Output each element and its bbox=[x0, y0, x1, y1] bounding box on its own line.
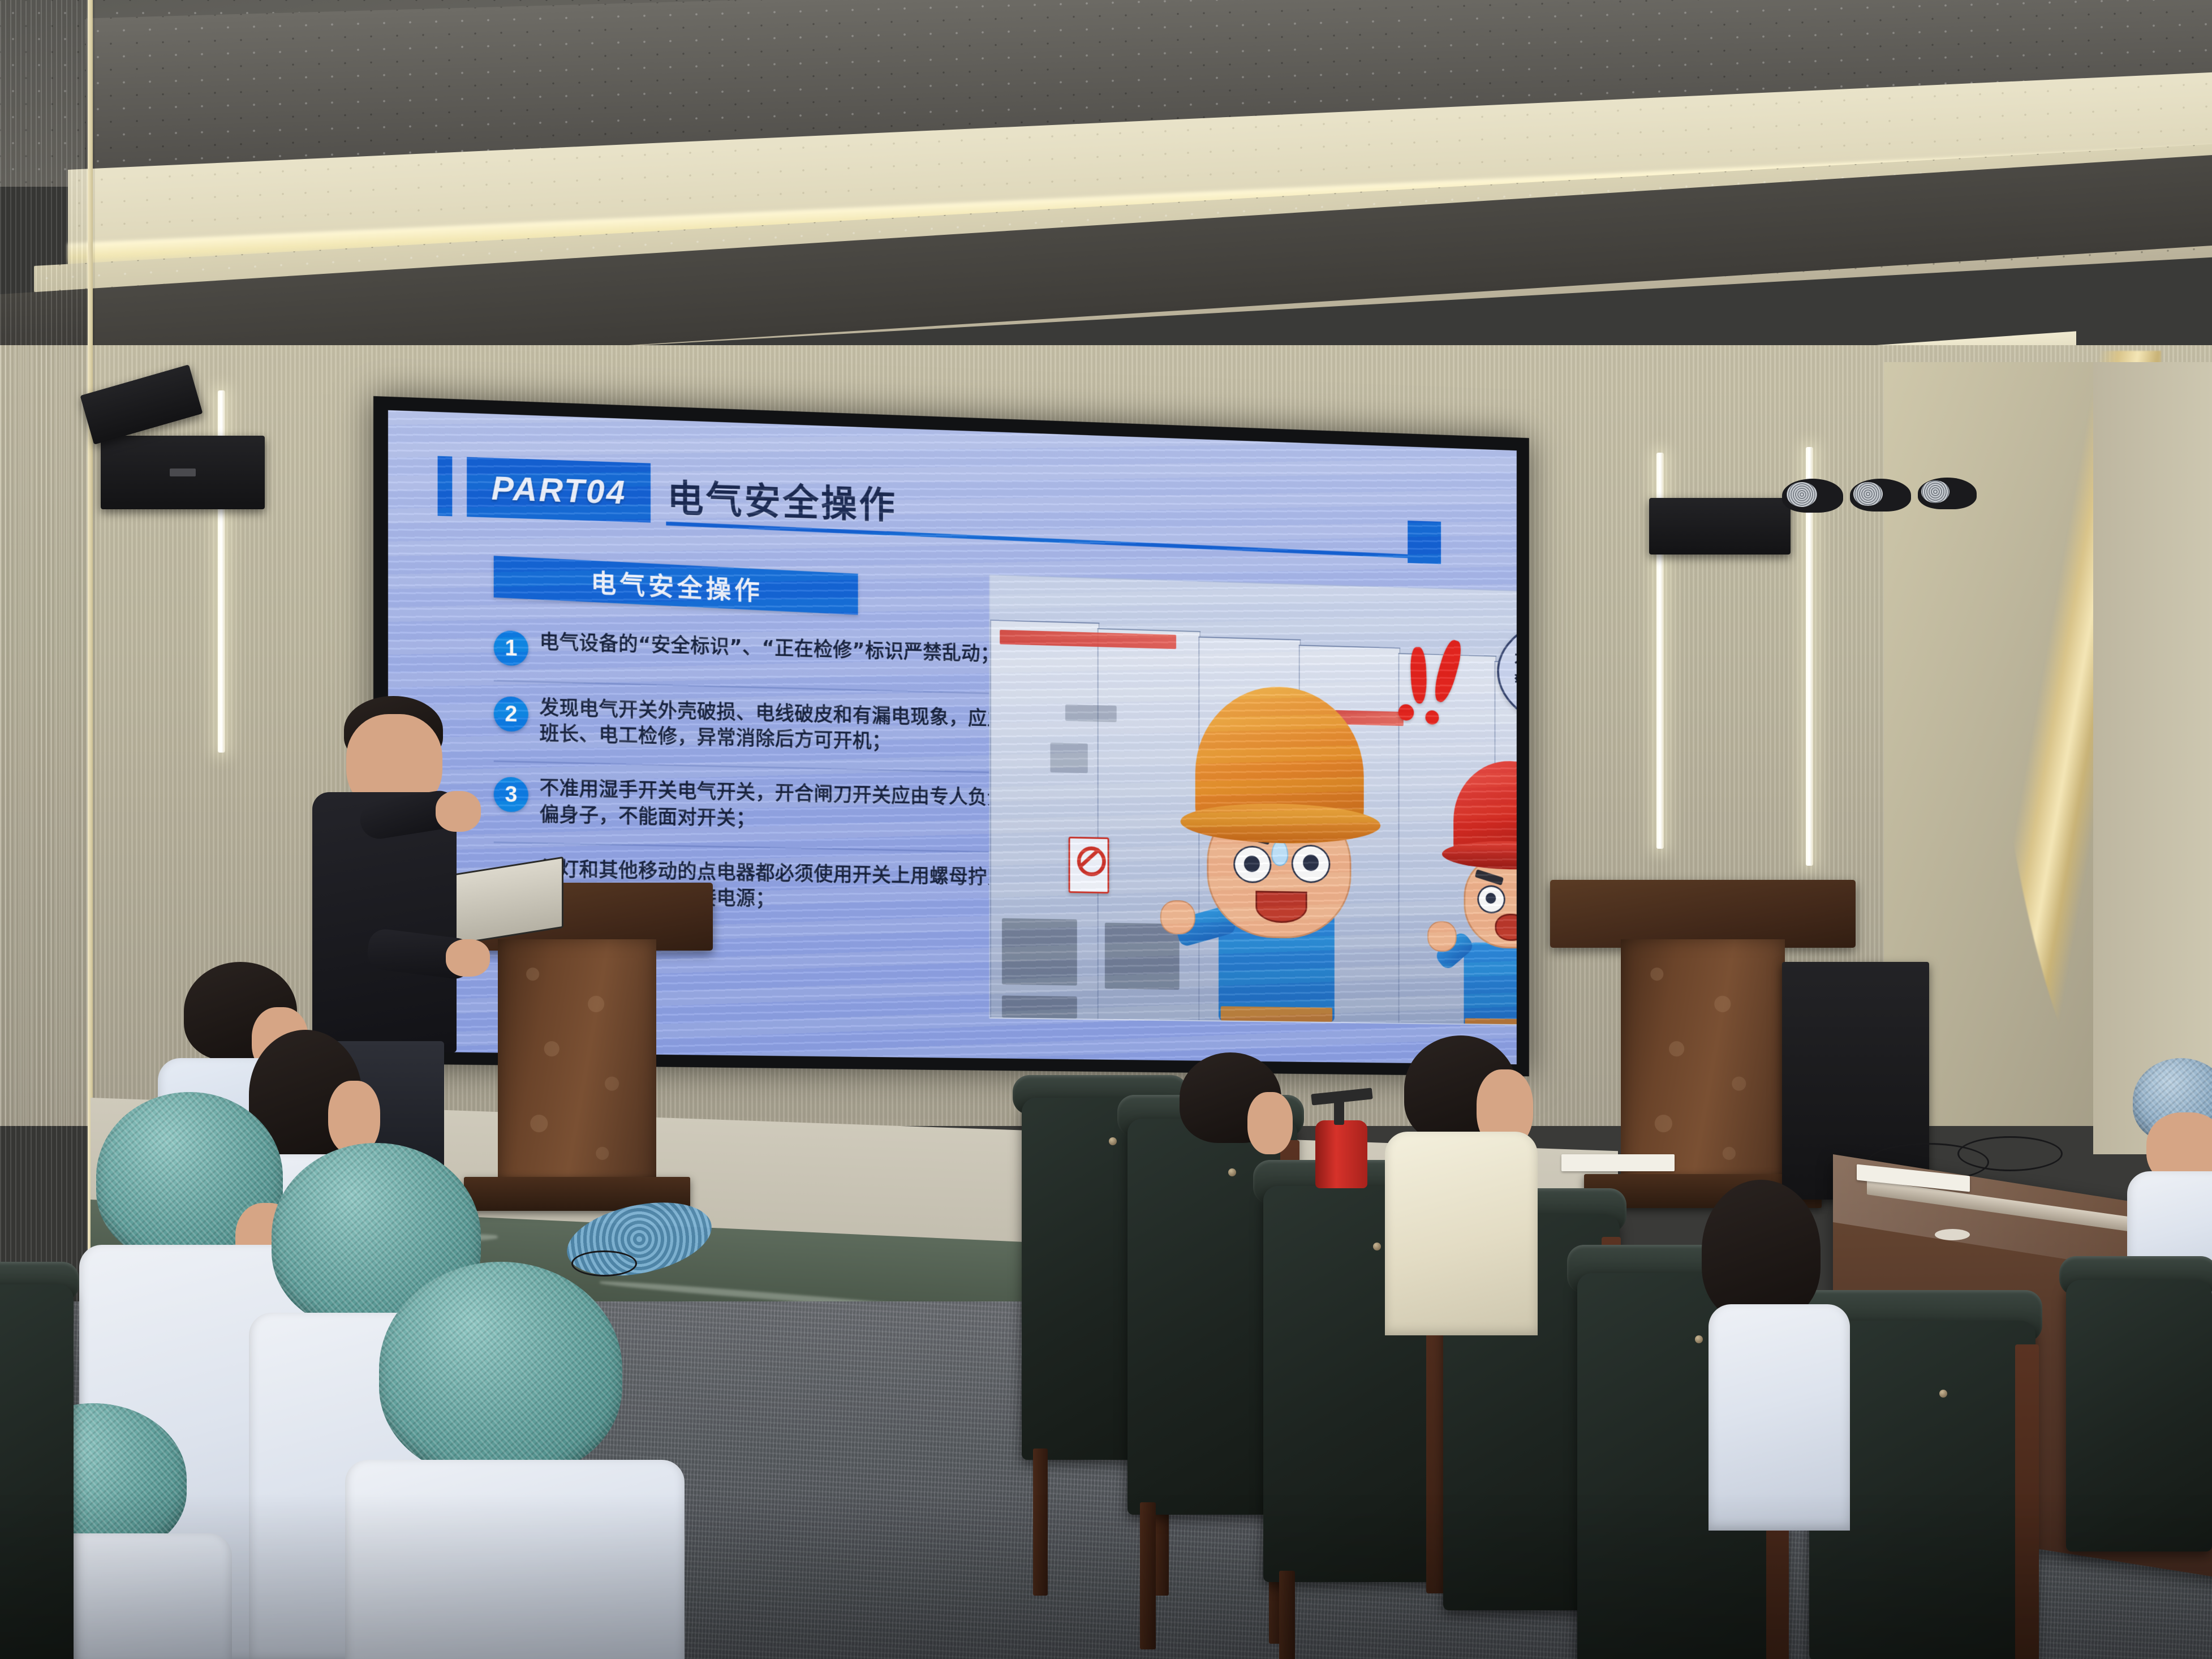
chair-stud bbox=[1939, 1390, 1947, 1398]
table-coaster bbox=[1935, 1229, 1970, 1240]
fire-extinguisher-nozzle bbox=[1334, 1098, 1344, 1125]
conference-room-photo: PART04 电气安全操作 电气安全操作 1 电气设备的“安全标识”、“正在检修… bbox=[0, 0, 2212, 1659]
hairnet-texture bbox=[379, 1262, 622, 1477]
audience-mid-1 bbox=[1151, 1052, 1298, 1222]
lectern-swirl-carving bbox=[1621, 939, 1785, 1188]
spotlight-lens bbox=[1853, 482, 1883, 506]
spotlight-2 bbox=[1850, 479, 1911, 512]
vignette-bottom bbox=[0, 1494, 2212, 1659]
chair-stud bbox=[1109, 1137, 1117, 1145]
spotlight-lens bbox=[1787, 482, 1817, 507]
table-cable-loop bbox=[1957, 1136, 2063, 1171]
wall-speaker-right bbox=[1649, 498, 1791, 555]
audience-hair bbox=[1702, 1180, 1821, 1321]
spotlight-3 bbox=[1918, 478, 1977, 509]
speaker-brand-badge bbox=[170, 469, 196, 476]
presenter-hand-lower bbox=[446, 939, 490, 977]
spotlight-lens bbox=[1921, 480, 1950, 503]
audience-right-1 bbox=[1692, 1180, 1861, 1497]
spotlight-1 bbox=[1782, 479, 1843, 513]
presenter-hand-raised bbox=[436, 791, 481, 832]
audience-cream-polo bbox=[1385, 1132, 1538, 1335]
teal-hairnet bbox=[379, 1262, 622, 1477]
wall-speaker-left bbox=[101, 436, 265, 509]
fire-extinguisher bbox=[1315, 1120, 1367, 1188]
lectern-right-top bbox=[1550, 880, 1856, 948]
lectern-right-column bbox=[1621, 939, 1785, 1188]
audience-mid-2 bbox=[1369, 1035, 1550, 1330]
papers-on-stage bbox=[1561, 1154, 1675, 1171]
far-right-wall bbox=[2093, 362, 2212, 1154]
audience-head bbox=[1247, 1092, 1293, 1154]
